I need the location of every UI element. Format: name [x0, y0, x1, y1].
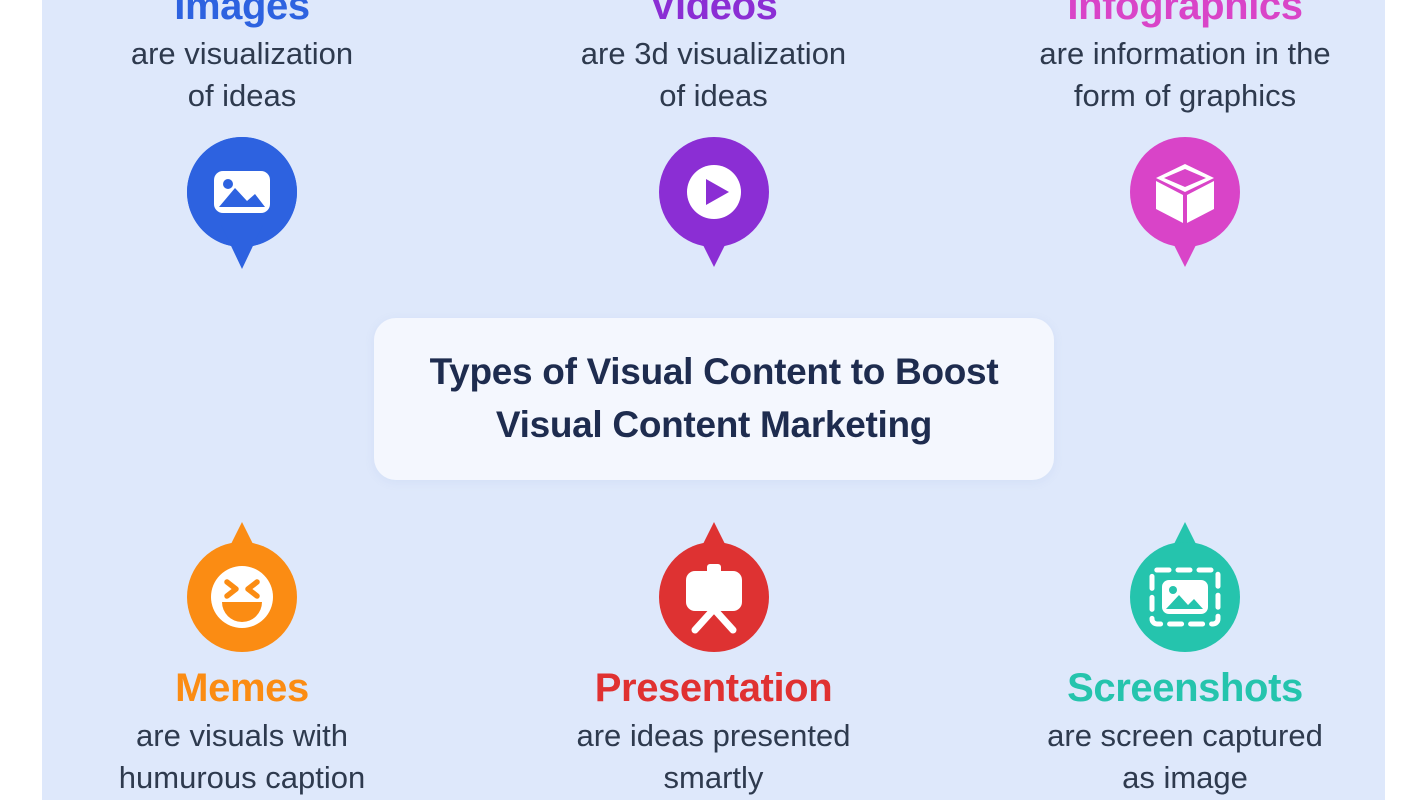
photo-icon [183, 133, 301, 273]
item-desc-images: are visualization of ideas [131, 33, 353, 117]
page-title-line-2: Visual Content Marketing [430, 399, 999, 452]
pin-marker-images[interactable] [183, 133, 301, 273]
item-images: Images are visualization of ideas [42, 0, 442, 273]
play-circle-icon [655, 133, 773, 273]
bottom-row: Memes are visuals with humurous caption [42, 516, 1385, 800]
item-desc-videos: are 3d visualization of ideas [581, 33, 846, 117]
item-desc-line: are screen captured [1047, 715, 1323, 757]
item-title-presentation: Presentation [595, 668, 833, 709]
item-videos: Videos are 3d visualization of ideas [514, 0, 914, 273]
item-desc-line: smartly [576, 757, 850, 799]
item-desc-infographics: are information in the form of graphics [1039, 33, 1330, 117]
item-desc-line: humurous caption [119, 757, 365, 799]
item-desc-screenshots: are screen captured as image [1047, 715, 1323, 799]
item-desc-memes: are visuals with humurous caption [119, 715, 365, 799]
pin-marker-infographics[interactable] [1126, 133, 1244, 273]
item-desc-line: of ideas [581, 75, 846, 117]
item-title-images: Images [174, 0, 309, 27]
infographic-panel: Images are visualization of ideas [42, 0, 1385, 800]
item-infographics: Infographics are information in the form… [985, 0, 1385, 273]
item-title-memes: Memes [175, 668, 309, 709]
item-desc-presentation: are ideas presented smartly [576, 715, 850, 799]
item-title-screenshots: Screenshots [1067, 668, 1303, 709]
item-desc-line: are ideas presented [576, 715, 850, 757]
item-screenshots: Screenshots are screen captured as image [985, 516, 1385, 799]
item-desc-line: form of graphics [1039, 75, 1330, 117]
infographic-canvas: Images are visualization of ideas [0, 0, 1422, 800]
item-title-videos: Videos [649, 0, 777, 27]
item-title-infographics: Infographics [1067, 0, 1302, 27]
item-desc-line: of ideas [131, 75, 353, 117]
item-desc-line: are visualization [131, 33, 353, 75]
page-title-line-1: Types of Visual Content to Boost [430, 346, 999, 399]
cube-3d-icon [1126, 133, 1244, 273]
pin-marker-presentation[interactable] [655, 516, 773, 656]
top-row: Images are visualization of ideas [42, 0, 1385, 286]
pin-marker-memes[interactable] [183, 516, 301, 656]
item-memes: Memes are visuals with humurous caption [42, 516, 442, 799]
item-desc-line: are visuals with [119, 715, 365, 757]
pin-marker-screenshots[interactable] [1126, 516, 1244, 656]
laughing-face-icon [183, 516, 301, 656]
pin-marker-videos[interactable] [655, 133, 773, 273]
item-desc-line: are information in the [1039, 33, 1330, 75]
item-desc-line: as image [1047, 757, 1323, 799]
center-title-card: Types of Visual Content to Boost Visual … [374, 318, 1054, 480]
item-desc-line: are 3d visualization [581, 33, 846, 75]
page-title: Types of Visual Content to Boost Visual … [404, 346, 1025, 451]
presentation-board-icon [655, 516, 773, 656]
screenshot-capture-icon [1126, 516, 1244, 656]
item-presentation: Presentation are ideas presented smartly [514, 516, 914, 799]
